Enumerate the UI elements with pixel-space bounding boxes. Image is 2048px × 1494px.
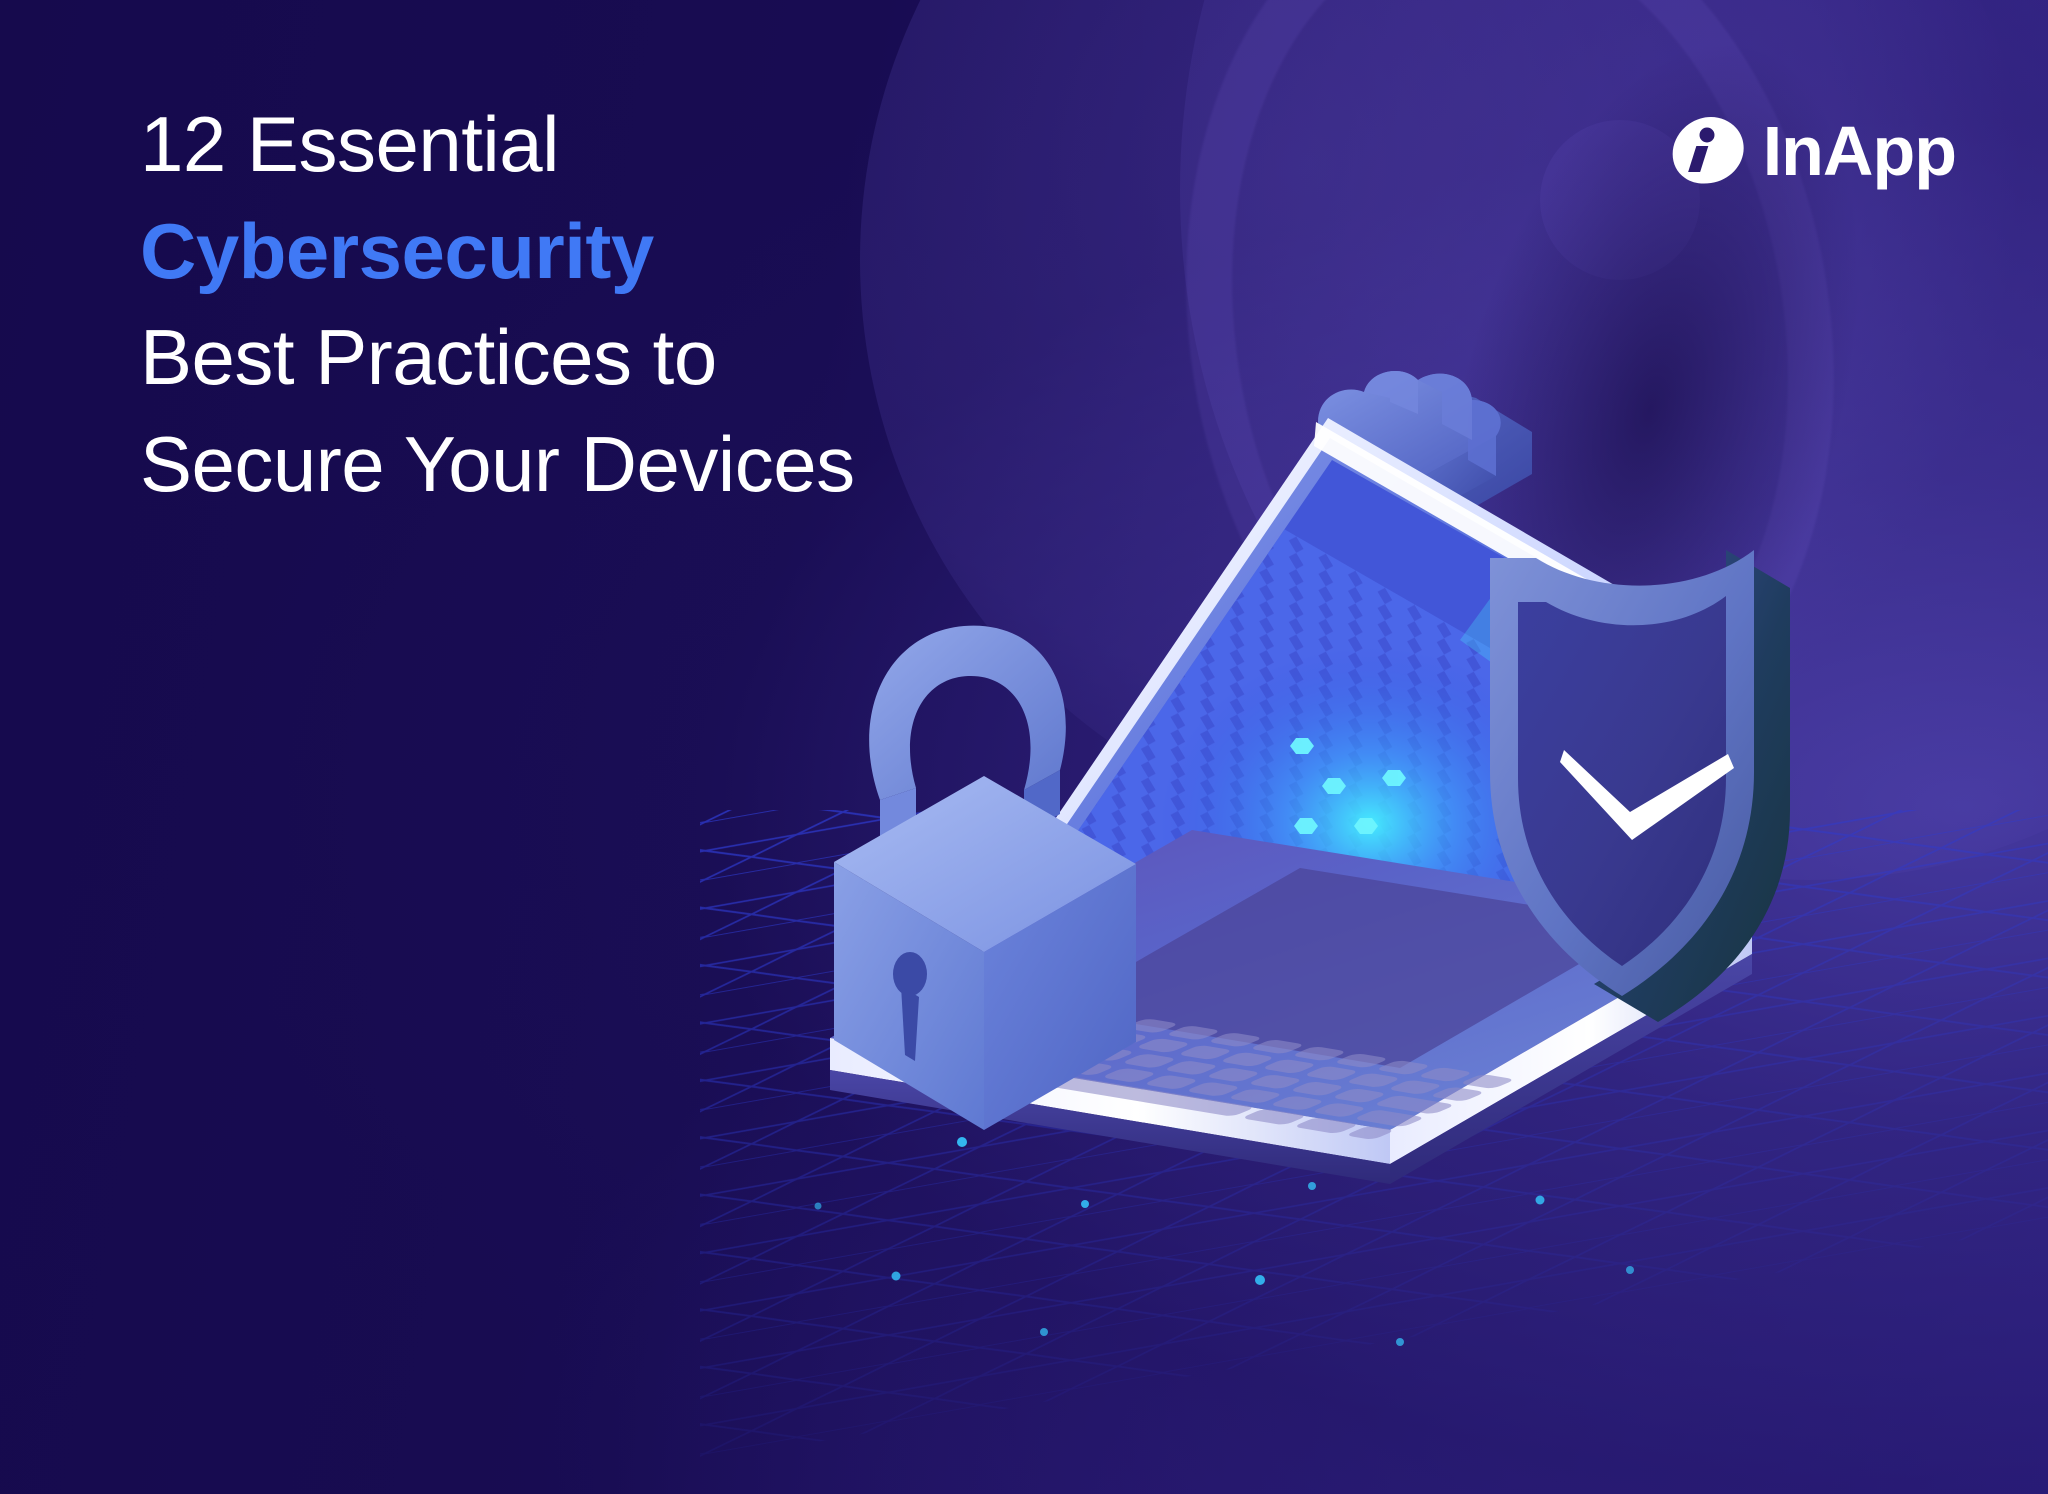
inapp-circle-i-icon — [1663, 108, 1749, 194]
banner-canvas: 12 Essential Cybersecurity Best Practice… — [0, 0, 2048, 1494]
headline-line-1: 12 Essential — [140, 96, 1040, 193]
logo-wordmark: InApp — [1763, 116, 1956, 186]
isometric-cybersecurity-scene — [700, 270, 2048, 1494]
brand-logo[interactable]: InApp — [1663, 108, 1956, 194]
